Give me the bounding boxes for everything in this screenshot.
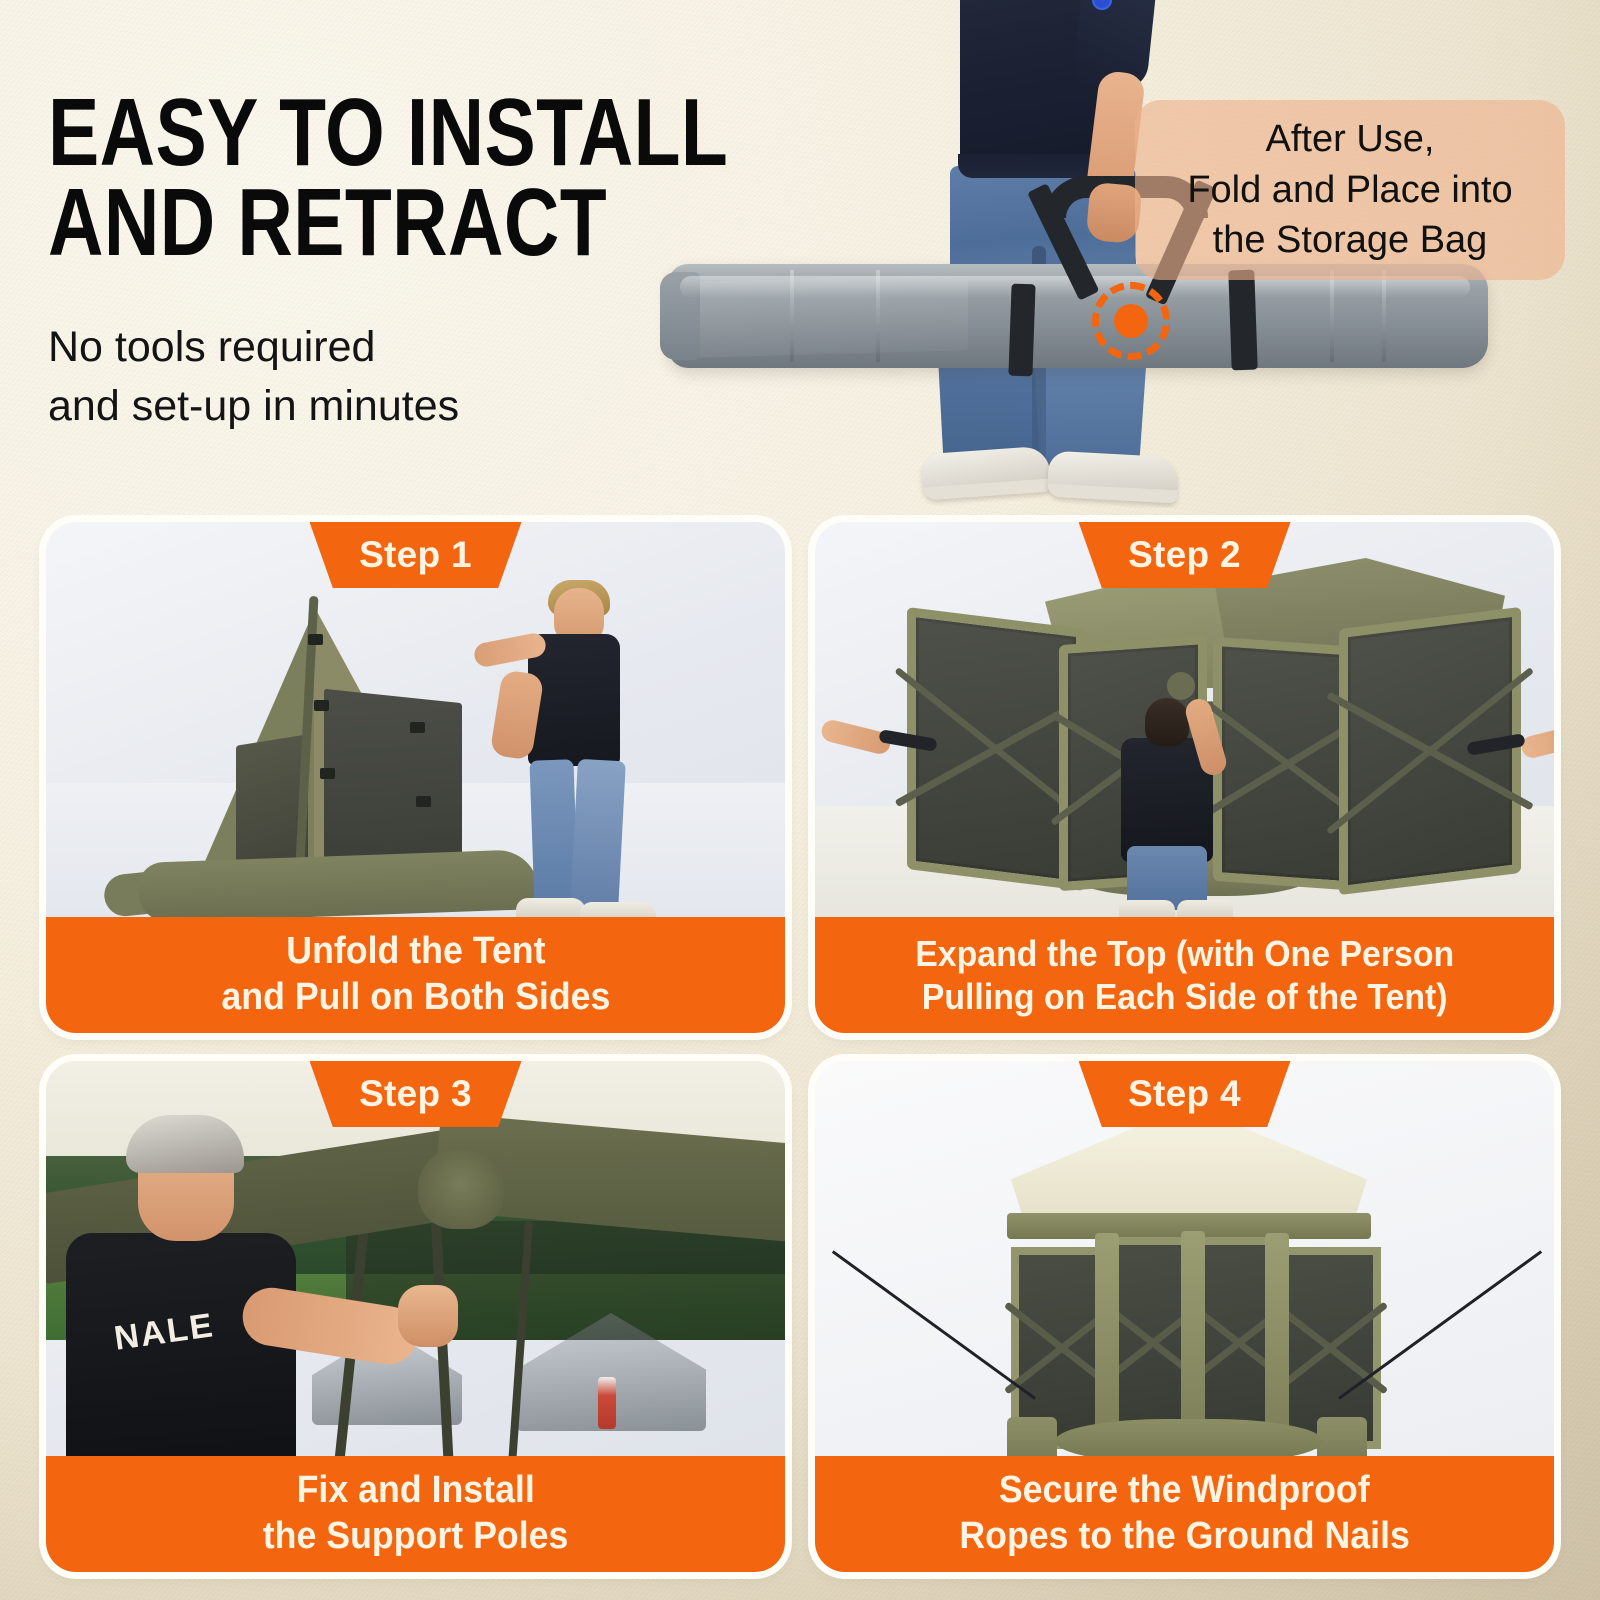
step-3-caption-line-1: Fix and Install	[296, 1468, 534, 1514]
step-2-caption-line-2: Pulling on Each Side of the Tent)	[922, 975, 1448, 1018]
tent-clip	[410, 722, 425, 733]
person-hair	[126, 1115, 244, 1173]
step-1-caption-line-1: Unfold the Tent	[286, 929, 545, 975]
bag-strap-vertical-right	[1228, 270, 1257, 371]
target-dot-icon	[1114, 304, 1148, 338]
folded-tent	[196, 600, 526, 900]
hero-hand	[1086, 182, 1143, 244]
person-shoe-left	[1119, 900, 1175, 917]
step-card-3[interactable]: NALE Step 3 Fix and Install the Support …	[46, 1061, 785, 1572]
hero-shoe-front	[1047, 451, 1179, 504]
steps-grid: Step 1 Unfold the Tent and Pull on Both …	[46, 522, 1554, 1572]
step-1-badge: Step 1	[310, 522, 522, 588]
step-4-caption-line-1: Secure the Windproof	[999, 1468, 1370, 1514]
tent-clip	[308, 634, 323, 645]
tent-clip	[314, 700, 329, 711]
tent-clip	[416, 796, 431, 807]
gazebo-post-center	[1181, 1231, 1205, 1445]
step-3-caption: Fix and Install the Support Poles	[46, 1456, 785, 1572]
step-card-1[interactable]: Step 1 Unfold the Tent and Pull on Both …	[46, 522, 785, 1033]
step-2-caption-line-1: Expand the Top (with One Person	[915, 932, 1454, 975]
step-card-2[interactable]: Step 2 Expand the Top (with One Person P…	[815, 522, 1554, 1033]
step-3-badge: Step 3	[310, 1061, 522, 1127]
bag-fold-line	[790, 270, 794, 362]
step-2-badge: Step 2	[1079, 522, 1291, 588]
person-leg-right	[570, 759, 626, 911]
tent-clip	[320, 768, 335, 779]
person-shoe-right	[1177, 900, 1233, 917]
bag-fold-line	[876, 270, 880, 362]
step-1-caption-line-2: and Pull on Both Sides	[221, 975, 610, 1021]
person-head	[1145, 698, 1189, 746]
step-3-caption-line-2: the Support Poles	[263, 1514, 569, 1560]
orange-target-marker-icon	[1092, 282, 1170, 360]
hero-shoe-back	[921, 446, 1052, 501]
step-1-caption: Unfold the Tent and Pull on Both Sides	[46, 917, 785, 1033]
callout-line-3: the Storage Bag	[1187, 215, 1512, 266]
person-shoe-right	[580, 902, 656, 917]
step-card-4[interactable]: Step 4 Secure the Windproof Ropes to the…	[815, 1061, 1554, 1572]
canopy-center-hub	[1167, 672, 1195, 700]
step-2-caption: Expand the Top (with One Person Pulling …	[815, 917, 1554, 1033]
person-shoe-left	[516, 898, 586, 917]
tent-mesh-panel-right	[324, 689, 462, 880]
gazebo-foot-4	[1317, 1417, 1367, 1456]
storage-bag-callout: After Use, Fold and Place into the Stora…	[1135, 100, 1565, 280]
gazebo-post-right	[1265, 1233, 1289, 1443]
step-4-caption-line-2: Ropes to the Ground Nails	[959, 1514, 1409, 1560]
callout-line-1: After Use,	[1187, 114, 1512, 165]
gazebo-floor-ring	[1055, 1419, 1323, 1456]
canopy-hub	[418, 1147, 504, 1229]
step-4-caption: Secure the Windproof Ropes to the Ground…	[815, 1456, 1554, 1572]
gazebo-foot-1	[1007, 1417, 1057, 1456]
bag-fold-line	[1382, 270, 1386, 362]
headline-line-1: EASY TO INSTALL	[48, 88, 656, 178]
callout-text: After Use, Fold and Place into the Stora…	[1187, 114, 1512, 266]
gazebo-post-left	[1095, 1233, 1119, 1443]
bag-strap-vertical-left	[1008, 284, 1035, 377]
bag-fold-line	[1330, 270, 1334, 362]
callout-line-2: Fold and Place into	[1187, 165, 1512, 216]
person-fist-gripping-pole	[398, 1285, 458, 1347]
background-bottle	[598, 1377, 616, 1429]
headline-line-2: AND RETRACT	[48, 178, 656, 268]
step-4-badge: Step 4	[1079, 1061, 1291, 1127]
